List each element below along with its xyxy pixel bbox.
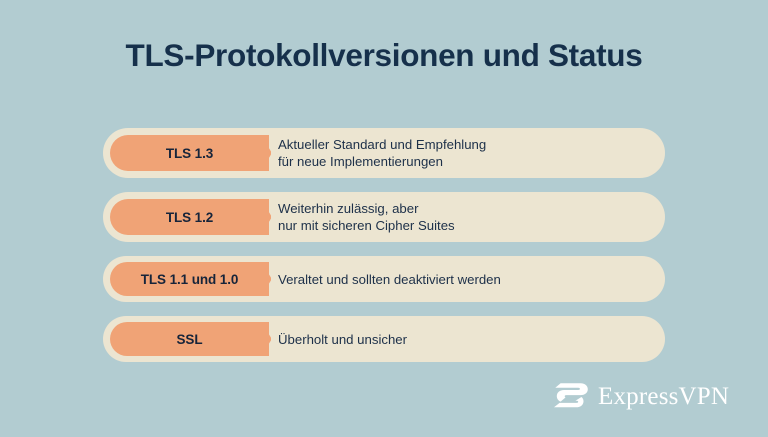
list-item: TLS 1.3 Aktueller Standard und Empfehlun…	[103, 128, 665, 178]
version-tag-label: TLS 1.2	[166, 210, 213, 225]
list-item: TLS 1.1 und 1.0 Veraltet und sollten dea…	[103, 256, 665, 302]
page-title: TLS-Protokollversionen und Status	[0, 37, 768, 74]
infographic-canvas: TLS-Protokollversionen und Status TLS 1.…	[0, 0, 768, 437]
list-item: TLS 1.2 Weiterhin zulässig, aber nur mit…	[103, 192, 665, 242]
version-tag-label: TLS 1.1 und 1.0	[141, 272, 239, 287]
expressvpn-e-mark-icon	[553, 381, 589, 411]
version-tag-label: TLS 1.3	[166, 146, 213, 161]
brand-logo: ExpressVPN	[553, 381, 729, 411]
list-item: SSL Überholt und unsicher	[103, 316, 665, 362]
version-tag-label: SSL	[177, 332, 203, 347]
version-tag: TLS 1.2	[110, 199, 269, 235]
tls-version-list: TLS 1.3 Aktueller Standard und Empfehlun…	[103, 128, 665, 362]
version-description: Veraltet und sollten deaktiviert werden	[278, 271, 647, 288]
version-tag: TLS 1.3	[110, 135, 269, 171]
version-tag: TLS 1.1 und 1.0	[110, 262, 269, 296]
brand-wordmark: ExpressVPN	[598, 384, 729, 409]
version-tag: SSL	[110, 322, 269, 356]
version-description: Weiterhin zulässig, aber nur mit sichere…	[278, 200, 647, 234]
version-description: Aktueller Standard und Empfehlung für ne…	[278, 136, 647, 170]
version-description: Überholt und unsicher	[278, 331, 647, 348]
